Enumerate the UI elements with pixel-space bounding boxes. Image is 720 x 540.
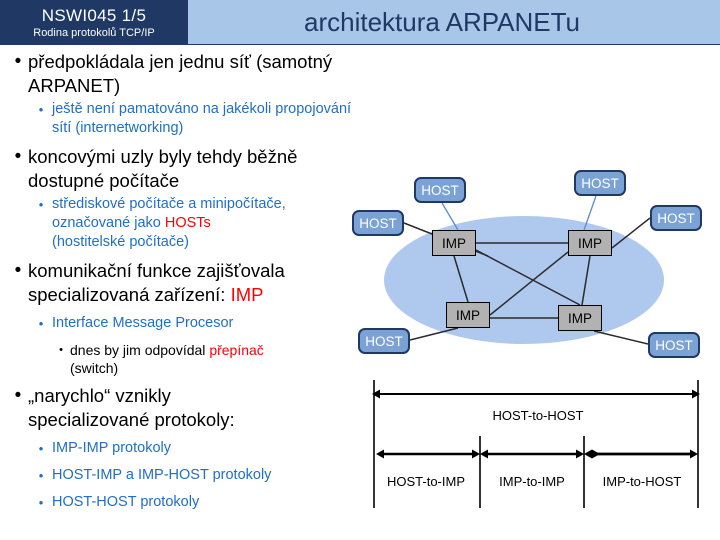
- bullet-dot-icon: •: [30, 493, 52, 513]
- bullet-dot-icon: •: [30, 195, 52, 215]
- imp-node-bottom-right[interactable]: IMP: [558, 305, 602, 331]
- arpanet-network-diagram: IMP IMP IMP IMP HOST HOST HOST HOST HOST…: [346, 160, 720, 375]
- bullet-level2: • HOST-HOST protokoly: [8, 493, 364, 513]
- bullet-text: HOST-HOST protokoly: [52, 493, 364, 512]
- page-title: architektura ARPANETu: [304, 7, 604, 38]
- imp-node-top-right[interactable]: IMP: [568, 230, 612, 256]
- bullet-text: HOST-IMP a IMP-HOST protokoly: [52, 466, 364, 485]
- bullet-dot-icon: •: [30, 314, 52, 334]
- bullet-text-part: (hostitelské počítače): [52, 234, 189, 250]
- bullet-text-group: dnes by jim odpovídal přepínač (switch): [70, 341, 364, 377]
- bullet-text-group: komunikační funkce zajišťovala specializ…: [28, 259, 364, 307]
- slide-header: NSWI045 1/5 Rodina protokolů TCP/IP arch…: [0, 0, 720, 44]
- bullet-text-part: (switch): [70, 360, 118, 376]
- bullet-dot-icon: •: [52, 341, 70, 360]
- bullet-text: ještě není pamatováno na jakékoli propoj…: [52, 100, 364, 138]
- bullet-level1: • předpokládala jen jednu síť (samotný A…: [8, 50, 364, 98]
- header-divider: [0, 44, 720, 45]
- span-label-imp-to-host: IMP-to-HOST: [586, 474, 698, 489]
- host-node-left[interactable]: HOST: [352, 210, 404, 236]
- bullet-dot-icon: •: [30, 100, 52, 120]
- bullet-text-part: dnes by jim odpovídal: [70, 342, 209, 358]
- bullet-text-group: střediskové počítače a minipočítače, ozn…: [52, 195, 364, 252]
- span-label-host-to-imp: HOST-to-IMP: [370, 474, 482, 489]
- bullet-dot-icon: •: [8, 259, 28, 283]
- span-canvas: [366, 378, 714, 528]
- network-cloud-shape: [384, 216, 664, 344]
- highlight-hosts: HOSTs: [165, 215, 211, 231]
- highlight-prepinac: přepínač: [209, 342, 263, 358]
- bullet-text-part: specializovaná zařízení:: [28, 284, 231, 305]
- bullet-text: Interface Message Procesor: [52, 314, 364, 333]
- bullet-level1: • koncovými uzly byly tehdy běžně dostup…: [8, 145, 364, 193]
- course-subtitle: Rodina protokolů TCP/IP: [33, 27, 154, 39]
- bullet-text: koncovými uzly byly tehdy běžně dostupné…: [28, 145, 364, 193]
- imp-node-top-left[interactable]: IMP: [432, 230, 476, 256]
- host-node-top-right[interactable]: HOST: [574, 170, 626, 196]
- course-code: NSWI045 1/5: [42, 6, 146, 26]
- span-label-imp-to-imp: IMP-to-IMP: [482, 474, 582, 489]
- link-host-bottom-right-imp: [594, 331, 648, 344]
- bullet-dot-icon: •: [8, 145, 28, 169]
- bullet-level1: • komunikační funkce zajišťovala special…: [8, 259, 364, 307]
- bullet-text: předpokládala jen jednu síť (samotný ARP…: [28, 50, 364, 98]
- protocol-span-diagram: HOST-to-HOST HOST-to-IMP IMP-to-IMP IMP-…: [366, 378, 714, 533]
- bullet-level2: • Interface Message Procesor: [8, 314, 364, 334]
- slide-body: • předpokládala jen jednu síť (samotný A…: [8, 50, 364, 514]
- highlight-imp: IMP: [231, 284, 264, 305]
- bullet-dot-icon: •: [30, 439, 52, 459]
- host-node-top-left[interactable]: HOST: [414, 177, 466, 203]
- bullet-text-part: komunikační funkce zajišťovala: [28, 260, 285, 281]
- host-node-right[interactable]: HOST: [650, 205, 702, 231]
- bullet-text-part: „narychlo“ vznikly: [28, 385, 171, 406]
- host-node-bottom-right[interactable]: HOST: [648, 332, 700, 358]
- bullet-text-group: „narychlo“ vznikly specializované protok…: [28, 384, 364, 432]
- span-label-host-to-host: HOST-to-HOST: [458, 408, 618, 423]
- bullet-level3: • dnes by jim odpovídal přepínač (switch…: [8, 341, 364, 377]
- bullet-dot-icon: •: [8, 50, 28, 74]
- bullet-level2: • ještě není pamatováno na jakékoli prop…: [8, 100, 364, 138]
- bullet-level1: • „narychlo“ vznikly specializované prot…: [8, 384, 364, 432]
- bullet-dot-icon: •: [30, 466, 52, 486]
- host-node-bottom-left[interactable]: HOST: [358, 328, 410, 354]
- bullet-text: IMP-IMP protokoly: [52, 439, 364, 458]
- bullet-level2: • střediskové počítače a minipočítače, o…: [8, 195, 364, 252]
- imp-node-bottom-left[interactable]: IMP: [446, 302, 490, 328]
- title-bar: architektura ARPANETu: [188, 0, 720, 44]
- course-badge: NSWI045 1/5 Rodina protokolů TCP/IP: [0, 0, 188, 44]
- bullet-level2: • HOST-IMP a IMP-HOST protokoly: [8, 466, 364, 486]
- bullet-level2: • IMP-IMP protokoly: [8, 439, 364, 459]
- bullet-dot-icon: •: [8, 384, 28, 408]
- bullet-text-part: specializované protokoly:: [28, 409, 235, 430]
